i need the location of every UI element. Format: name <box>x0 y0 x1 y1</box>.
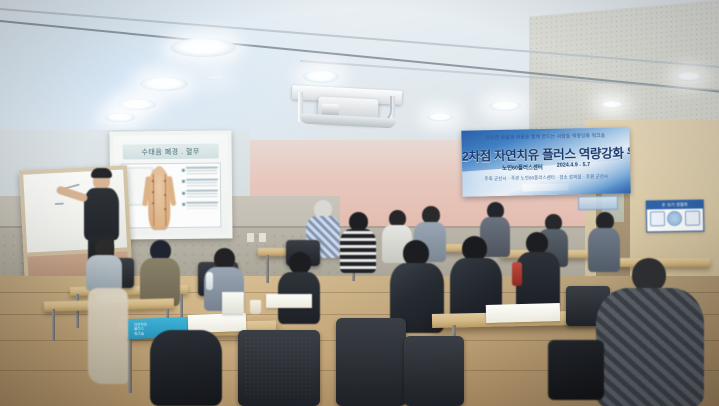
acupoint-2 <box>152 191 154 193</box>
water-bottle <box>206 272 213 290</box>
bag-on-floor <box>548 340 604 400</box>
downlight-1 <box>170 38 236 57</box>
downlight-10 <box>303 70 339 83</box>
slide-bullet <box>182 190 218 195</box>
presenter-cap <box>91 168 112 178</box>
table-leg <box>128 335 132 393</box>
chair-foreground-2[interactable] <box>336 318 406 406</box>
slide-content: 수태음 폐경 . 혈무 <box>113 134 228 235</box>
coat-on-chair <box>88 288 128 384</box>
chair-mesh-texture <box>244 336 314 398</box>
wall-outlet-3[interactable] <box>246 232 255 243</box>
attendee-torso <box>596 288 704 406</box>
attendee-2 <box>140 240 180 304</box>
paper-cup[interactable] <box>250 300 261 314</box>
seminar-room-photo: 수태음 폐경 . 혈무 <box>0 0 719 406</box>
banner-dates: 2024.4.9 - 5.7 <box>557 162 590 171</box>
folder-label: 자연치유 플러스 워크숍 <box>134 322 148 336</box>
downlight-3 <box>118 99 156 110</box>
table-leg <box>52 309 55 341</box>
chair-foreground-3[interactable] <box>404 336 464 406</box>
slide-bullet <box>182 201 218 206</box>
whiteboard-marker-stroke <box>55 203 64 205</box>
attendee-mid-dark <box>278 252 320 322</box>
downlight-9 <box>676 72 702 81</box>
downlight-6 <box>427 113 453 121</box>
event-banner: 건강한 마을과 마음을 함께 만드는 사람들 역량강화 워크숍 2차점 자연치유… <box>461 127 630 197</box>
presenter-torso <box>84 188 119 240</box>
attendee-torso <box>86 255 122 291</box>
attendee-head <box>289 252 311 274</box>
diagram-figure-head <box>155 166 164 175</box>
attendee-12-foreground <box>150 330 222 406</box>
hand-washing-poster: 손 씻기 생활화 <box>646 199 705 232</box>
acupoint-5 <box>164 194 166 196</box>
banner-top-text: 건강한 마을과 마음을 함께 만드는 사람들 역량강화 워크숍 <box>461 132 629 142</box>
acupoint-4 <box>164 180 166 182</box>
attendee-head <box>526 232 548 254</box>
attendee-torso <box>340 229 376 273</box>
wash-hands-icon <box>650 211 665 226</box>
slide-bullet <box>182 167 218 172</box>
attendee-1 <box>86 238 122 288</box>
tissue-box[interactable] <box>222 292 244 314</box>
downlight-7 <box>489 101 521 111</box>
attendee-head <box>214 248 235 269</box>
acupoint-1 <box>152 180 154 182</box>
acupoint-6 <box>164 208 166 210</box>
attendee-right-back <box>516 232 560 308</box>
paper-sheet-right <box>266 294 312 308</box>
wall-outlet-4[interactable] <box>258 232 267 243</box>
slide-title-text: 수태음 폐경 . 혈무 <box>141 146 199 157</box>
attendee-10-foreground-right <box>596 258 704 406</box>
table-leg <box>76 294 79 328</box>
table-leg <box>266 255 269 283</box>
attendee-head <box>632 258 666 292</box>
poster-icon-row <box>649 211 701 227</box>
banner-sponsor-logos <box>522 184 568 192</box>
attendee-6-stripe <box>340 212 376 268</box>
slide-body <box>121 162 222 228</box>
downlight-8 <box>601 101 623 108</box>
attendee-torso <box>516 252 560 310</box>
slide-anatomy-diagram <box>122 164 179 228</box>
acupoint-3 <box>152 202 154 204</box>
downlight-4 <box>105 113 135 122</box>
ceiling-panel-texture <box>529 0 719 137</box>
wall-sign <box>578 196 618 211</box>
downlight-5 <box>204 75 226 80</box>
paper-sheet-handout[interactable] <box>486 303 560 323</box>
banner-organizer: 노인60플러스센터 <box>502 163 543 172</box>
slide-bullet <box>182 178 218 183</box>
slide-bullet-list <box>179 163 221 226</box>
downlight-2 <box>140 77 188 91</box>
slide-title-bar: 수태음 폐경 . 혈무 <box>123 143 219 159</box>
poster-header: 손 씻기 생활화 <box>647 201 703 210</box>
sanitizer-icon <box>667 211 682 226</box>
attendee-torso <box>150 330 222 406</box>
mask-icon <box>685 211 700 226</box>
red-tumbler <box>512 262 522 286</box>
